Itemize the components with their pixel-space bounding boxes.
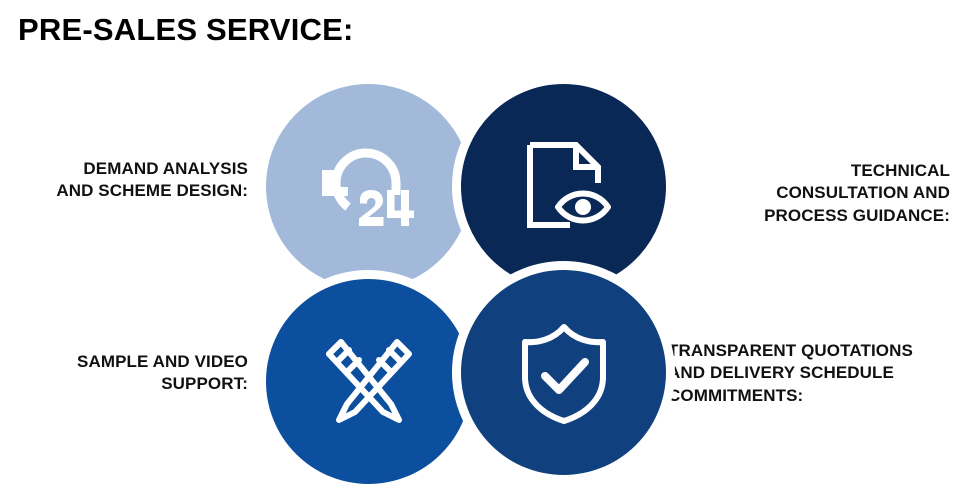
label-line: commitments: (668, 385, 960, 407)
label-line: process guidance: (728, 205, 950, 227)
label-line: Technical (728, 160, 950, 182)
label-transparent-quotations: Transparent quotations and delivery sche… (668, 340, 960, 407)
circle-sample-video-support[interactable] (257, 270, 480, 493)
circle-demand-analysis[interactable] (266, 84, 471, 289)
document-eye-icon (514, 137, 614, 237)
pencil-ruler-icon (317, 330, 421, 434)
four-circle-diagram (266, 84, 684, 486)
label-line: consultation and (728, 182, 950, 204)
label-technical-consultation: Technical consultation and process guida… (728, 160, 950, 227)
label-demand-analysis: Demand analysis and scheme design: (18, 158, 248, 203)
label-line: Sample and video (18, 351, 248, 373)
page-title: PRE-SALES SERVICE: (18, 12, 354, 48)
label-sample-video-support: Sample and video support: (18, 351, 248, 396)
label-line: Transparent quotations (668, 340, 960, 362)
label-line: Demand analysis (18, 158, 248, 180)
clock-24-rotate-icon (315, 139, 423, 235)
shield-check-icon (515, 321, 613, 425)
circle-transparent-quotations[interactable] (452, 261, 675, 484)
label-line: and delivery schedule (668, 362, 960, 384)
label-line: and scheme design: (18, 180, 248, 202)
label-line: support: (18, 373, 248, 395)
